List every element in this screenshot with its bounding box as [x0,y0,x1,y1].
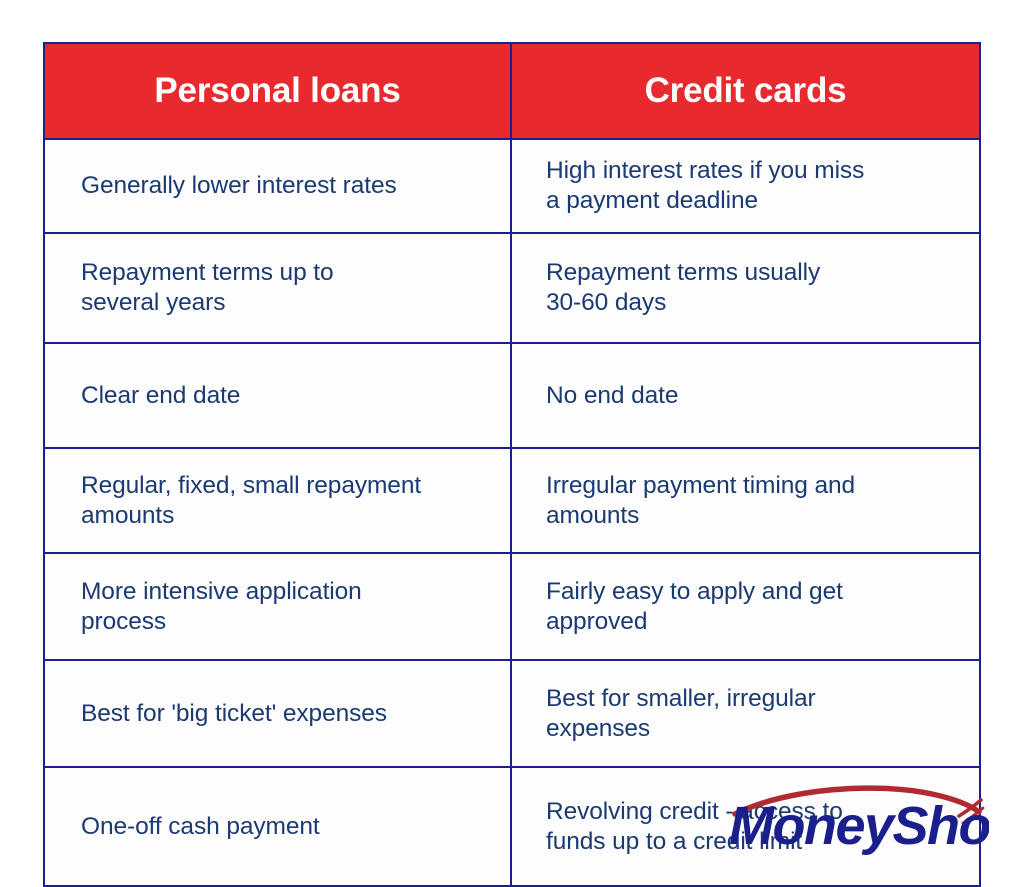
cell-personal-loans: Best for 'big ticket' expenses [44,660,511,767]
table-body: Generally lower interest rates High inte… [44,139,980,886]
table-row: Best for 'big ticket' expenses Best for … [44,660,980,767]
cell-text: High interest rates if you miss a paymen… [546,156,953,216]
table-row: More intensive application process Fairl… [44,553,980,660]
cell-credit-cards: Irregular payment timing and amounts [511,448,980,553]
column-header-credit-cards: Credit cards [511,43,980,139]
cell-credit-cards: High interest rates if you miss a paymen… [511,139,980,233]
cell-text: Regular, fixed, small repayment amounts [81,471,476,531]
page-canvas: Personal loans Credit cards Generally lo… [0,0,1024,878]
cell-text: Repayment terms usually 30-60 days [546,258,953,318]
cell-credit-cards: No end date [511,343,980,448]
cell-text: Generally lower interest rates [81,171,476,201]
cell-personal-loans: Regular, fixed, small repayment amounts [44,448,511,553]
table-row: Generally lower interest rates High inte… [44,139,980,233]
cell-text: One-off cash payment [81,812,476,842]
cell-credit-cards: Fairly easy to apply and get approved [511,553,980,660]
cell-text: Repayment terms up to several years [81,258,476,318]
cell-text: More intensive application process [81,577,476,637]
moneyshop-logo: MoneyShop [727,782,989,856]
cell-personal-loans: One-off cash payment [44,767,511,886]
cell-text: Best for smaller, irregular expenses [546,684,953,744]
cell-text: Clear end date [81,381,476,411]
table-header: Personal loans Credit cards [44,43,980,139]
cell-credit-cards: Best for smaller, irregular expenses [511,660,980,767]
column-header-personal-loans: Personal loans [44,43,511,139]
cell-text: Irregular payment timing and amounts [546,471,953,531]
table-row: Regular, fixed, small repayment amounts … [44,448,980,553]
cell-personal-loans: Clear end date [44,343,511,448]
cell-personal-loans: Generally lower interest rates [44,139,511,233]
table-row: Repayment terms up to several years Repa… [44,233,980,343]
comparison-table: Personal loans Credit cards Generally lo… [43,42,981,887]
cell-text: Best for 'big ticket' expenses [81,699,476,729]
cell-personal-loans: More intensive application process [44,553,511,660]
column-header-label: Personal loans [55,72,500,111]
column-header-label: Credit cards [522,72,969,111]
cell-text: No end date [546,381,953,411]
cell-personal-loans: Repayment terms up to several years [44,233,511,343]
table-row: Clear end date No end date [44,343,980,448]
header-row: Personal loans Credit cards [44,43,980,139]
cell-credit-cards: Repayment terms usually 30-60 days [511,233,980,343]
cell-text: Fairly easy to apply and get approved [546,577,953,637]
logo-wordmark: MoneyShop [729,796,989,856]
